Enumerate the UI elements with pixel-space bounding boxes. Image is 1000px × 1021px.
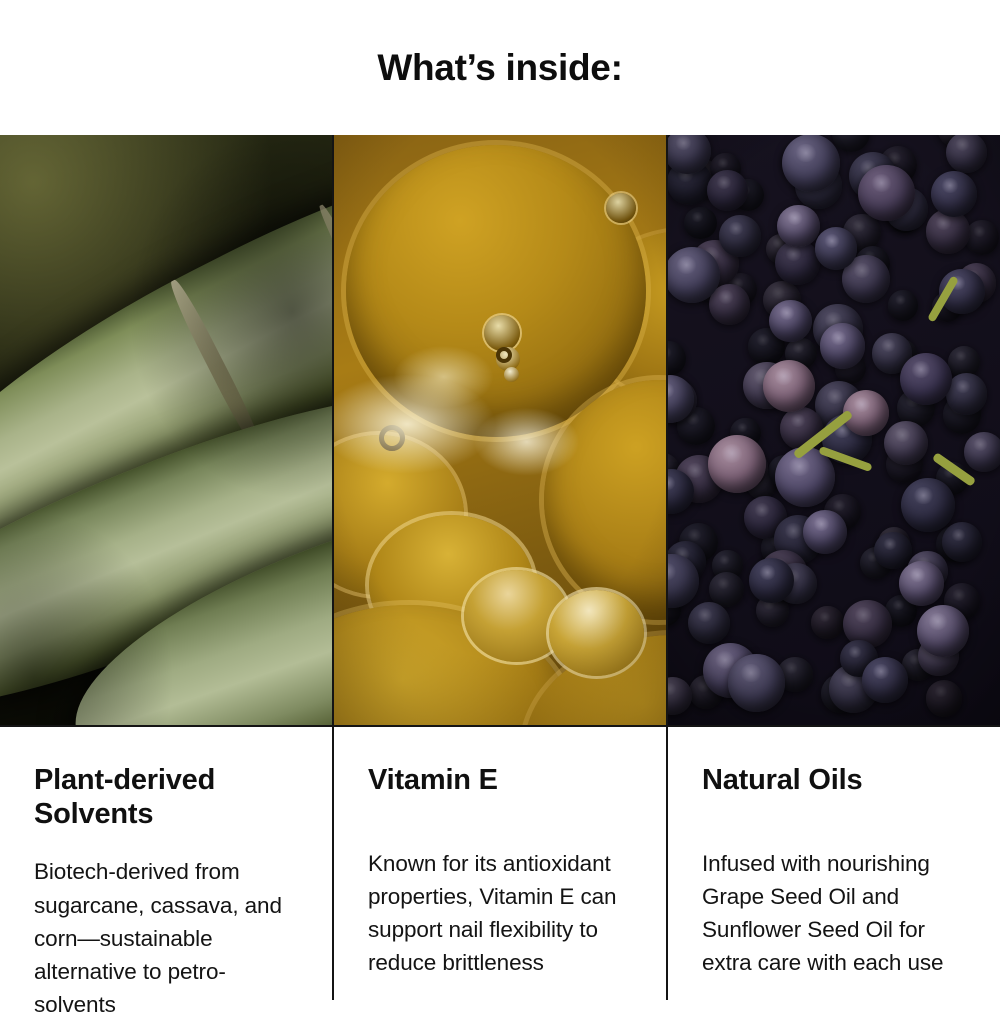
oil-vignette [334, 135, 666, 725]
ingredient-title: Plant-derived Solvents [34, 763, 298, 831]
header: What’s inside: [0, 0, 1000, 135]
ingredient-description: Infused with nourishing Grape Seed Oil a… [702, 847, 966, 979]
caption-block: Vitamin E Known for its antioxidant prop… [334, 727, 666, 979]
page-title: What’s inside: [377, 49, 622, 86]
sugarcane-image [0, 135, 332, 727]
grapes-image [668, 135, 1000, 727]
caption-block: Natural Oils Infused with nourishing Gra… [668, 727, 1000, 979]
caption-block: Plant-derived Solvents Biotech-derived f… [0, 727, 332, 1021]
ingredient-column-plant-derived-solvents: Plant-derived Solvents Biotech-derived f… [0, 135, 332, 1000]
sugarcane-vignette [0, 135, 332, 725]
oil-photo-illustration [334, 135, 666, 725]
ingredient-column-vitamin-e: Vitamin E Known for its antioxidant prop… [332, 135, 666, 1000]
grapes-vignette [668, 135, 1000, 725]
ingredient-title: Vitamin E [368, 763, 632, 797]
ingredient-title: Natural Oils [702, 763, 966, 797]
ingredient-columns: Plant-derived Solvents Biotech-derived f… [0, 135, 1000, 1000]
sugarcane-photo-illustration [0, 135, 332, 725]
grapes-photo-illustration [668, 135, 1000, 725]
oil-bubbles-image [334, 135, 666, 727]
whats-inside-infographic: What’s inside: Plant-derived Solvents Bi… [0, 0, 1000, 1000]
ingredient-column-natural-oils: Natural Oils Infused with nourishing Gra… [666, 135, 1000, 1000]
ingredient-description: Biotech-derived from sugarcane, cassava,… [34, 855, 298, 1020]
ingredient-description: Known for its antioxidant properties, Vi… [368, 847, 632, 979]
